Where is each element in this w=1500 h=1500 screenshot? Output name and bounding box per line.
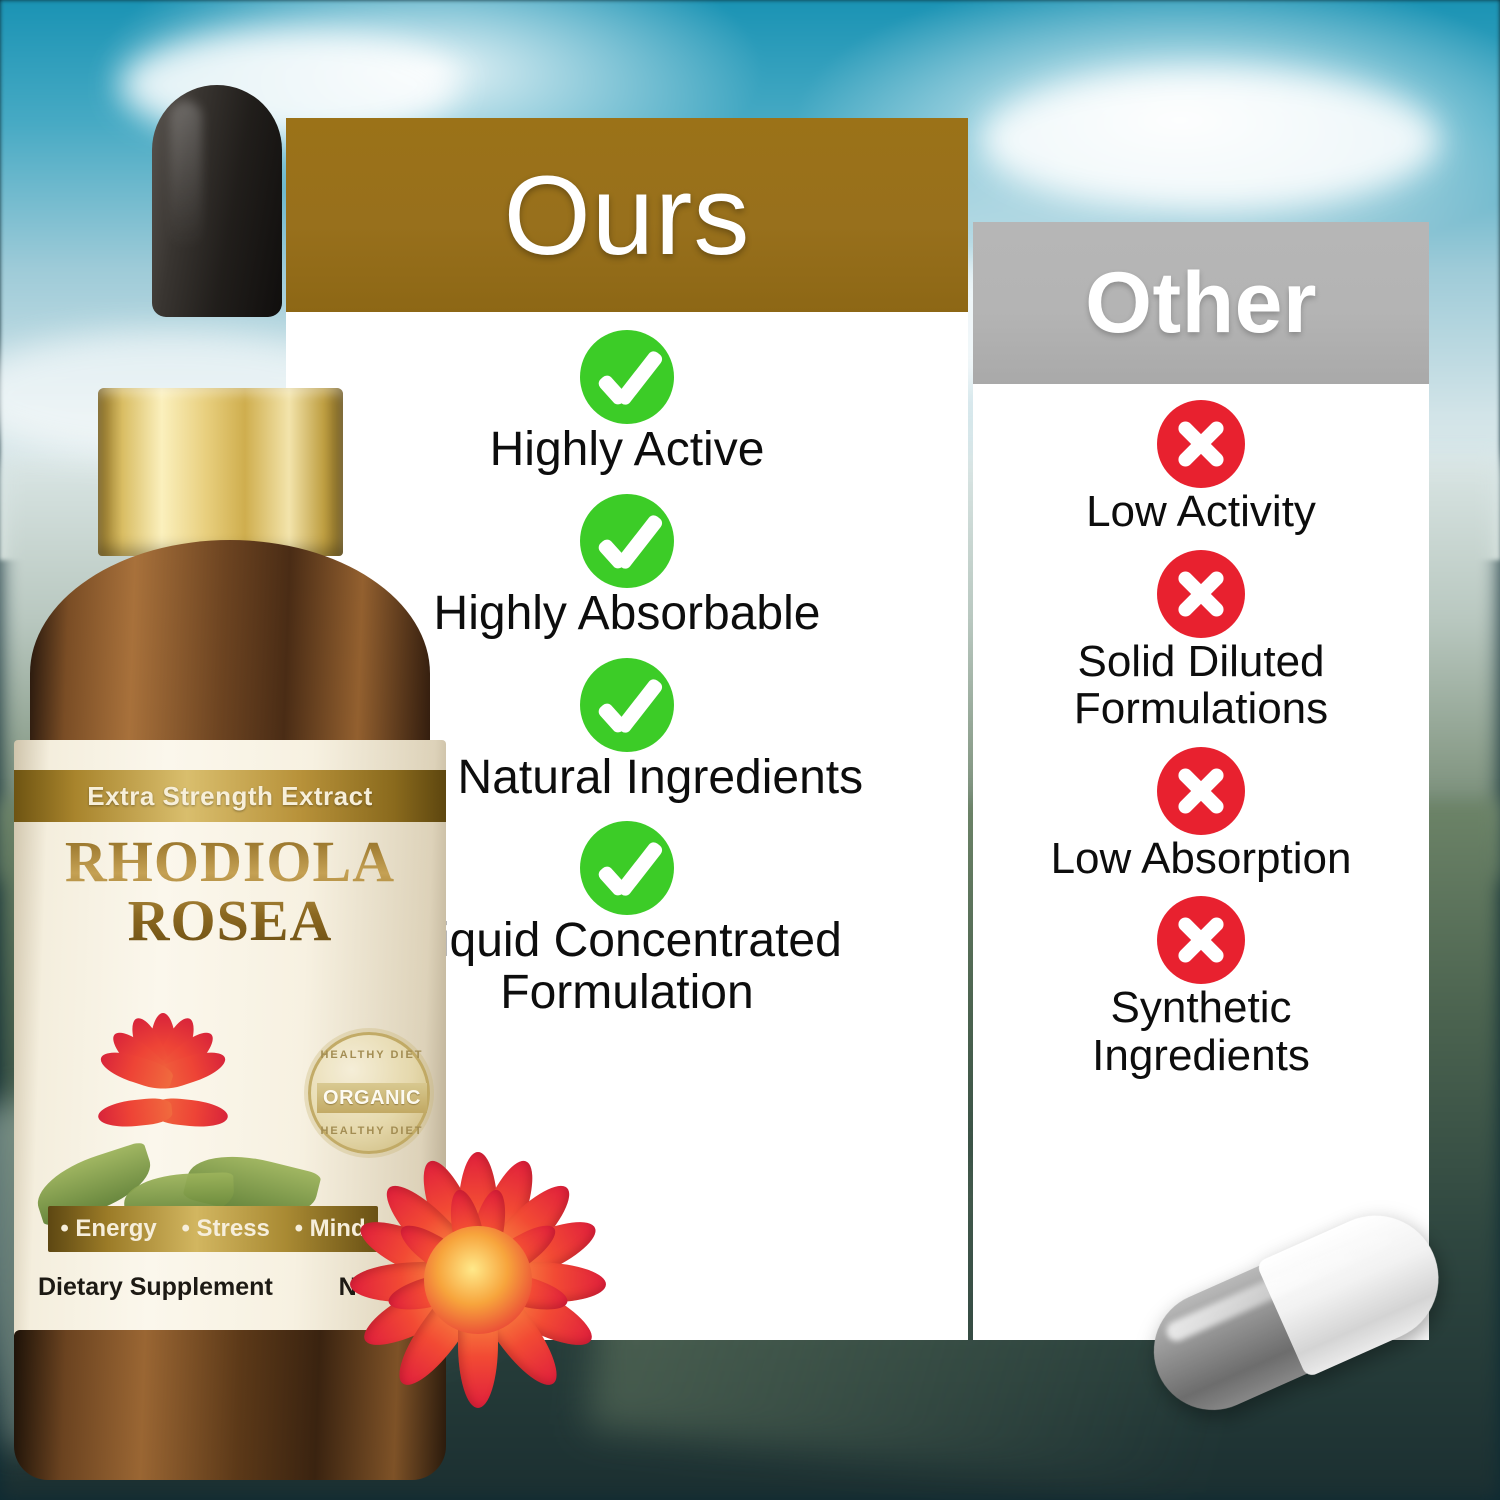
list-item: Synthetic Ingredients (973, 896, 1429, 1079)
label-banner: Extra Strength Extract (14, 770, 446, 822)
badge-top-arc: HEALTHY DIET (311, 1049, 433, 1061)
benefit-stress: • Stress (181, 1215, 269, 1243)
list-item-label: Low Activity (1086, 488, 1316, 536)
label-flower-illustration (32, 989, 317, 1214)
bottle-shoulder (30, 540, 430, 755)
list-item: Solid Diluted Formulations (973, 550, 1429, 733)
red-cross-icon (1157, 896, 1245, 984)
list-item-label: Liquid Concentrated Formulation (412, 915, 842, 1019)
list-item-label: Synthetic Ingredients (1092, 984, 1310, 1079)
petal-shape (97, 1096, 173, 1130)
list-item: Low Absorption (973, 747, 1429, 883)
other-feature-list: Low Activity Solid Diluted Formulations … (973, 400, 1429, 1079)
red-cross-icon (1157, 400, 1245, 488)
green-check-icon (580, 494, 674, 588)
label-product-name: RHODIOLA ROSEA (14, 832, 446, 950)
cloud-shape (980, 70, 1440, 210)
list-item-label: Highly Active (490, 424, 765, 476)
list-item: Low Activity (973, 400, 1429, 536)
green-check-icon (580, 821, 674, 915)
list-item-label: Solid Diluted Formulations (1074, 638, 1328, 733)
dropper-bulb (152, 85, 282, 317)
red-cross-icon (1157, 550, 1245, 638)
gold-cap-collar (98, 388, 343, 556)
supplement-type: Dietary Supplement (38, 1273, 273, 1302)
list-item-label: Low Absorption (1051, 835, 1352, 883)
list-item-label: Highly Absorbable (434, 588, 821, 640)
other-title: Other (973, 222, 1429, 384)
product-name-line2: ROSEA (14, 891, 446, 950)
product-name-line1: RHODIOLA (14, 832, 446, 891)
flower-core (424, 1226, 532, 1334)
green-check-icon (580, 658, 674, 752)
red-cross-icon (1157, 747, 1245, 835)
green-check-icon (580, 330, 674, 424)
rhodiola-flower-decoration (288, 1095, 668, 1465)
benefit-energy: • Energy (60, 1215, 156, 1243)
label-banner-text: Extra Strength Extract (87, 781, 373, 812)
